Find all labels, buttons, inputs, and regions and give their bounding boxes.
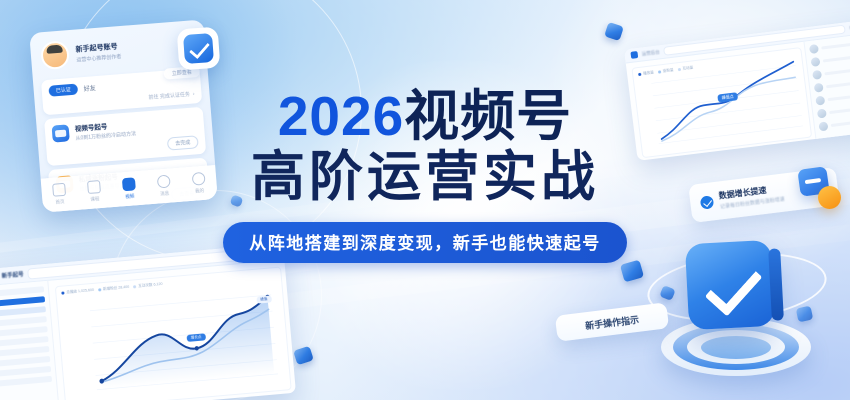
subtitle-pill: 从阵地搭建到深度变现，新手也能快速起号 [223,222,627,263]
sidebar-item-account-ops[interactable] [0,296,45,307]
area-chart [56,268,291,400]
avatar [809,44,819,54]
chart-panel: 总播放 1,025,600 新增粉丝 28,400 互动次数 6,120 [55,266,292,400]
guide-badge-title: 新手操作指示 [584,312,639,331]
sidebar-item-help[interactable] [0,376,52,387]
dashboard-title: 新手起号 [1,270,24,280]
phone-user-subtitle: 运营中心推荐创作者 [76,52,121,63]
headline-line-1: 2026视频号 [0,86,850,146]
headline-line-2: 高阶运营实战 [0,146,850,208]
sidebar-item-fans[interactable] [0,326,48,337]
app-logo-icon [630,51,638,59]
avatar [40,40,70,70]
decor-cube-2 [620,260,644,283]
sidebar-item-content[interactable] [0,306,46,317]
dashboard-title: 运营后台 [641,49,660,57]
dashboard-bottom-left: 新手起号 总播放 1,025,600 新增粉丝 28,4 [0,243,296,400]
promo-banner: 新手起号账号 运营中心推荐创作者 已认证 好友 前往 完成认证任务 › 视频号起… [0,0,850,400]
headline-block: 2026视频号 高阶运营实战 从阵地搭建到深度变现，新手也能快速起号 [0,86,850,263]
sidebar-item-ads[interactable] [0,356,50,367]
sidebar-item-settings[interactable] [0,366,51,377]
sidebar-item-monetize[interactable] [0,336,49,347]
decor-cube-3 [604,22,624,41]
sidebar-item-overview[interactable] [0,286,44,297]
sidebar-item-live[interactable] [0,346,49,357]
avatar [812,70,822,80]
list-item [809,38,850,54]
wechat-channels-check-icon [177,27,221,71]
avatar [811,57,821,67]
sidebar-item-publish[interactable] [0,316,47,327]
chart-tooltip-peak: 峰值 [256,295,272,303]
headline-product: 视频号 [404,85,572,147]
decor-cube-1 [293,346,314,366]
headline-year: 2026 [278,85,404,147]
